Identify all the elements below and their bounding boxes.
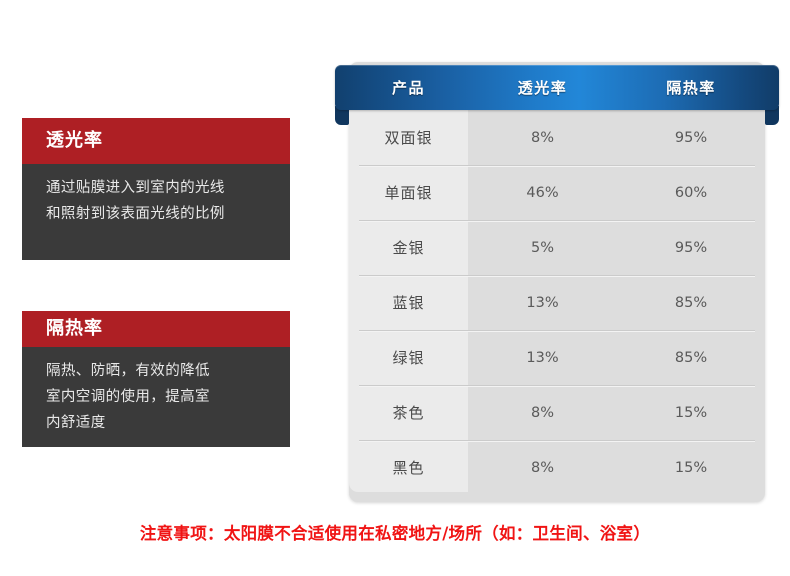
table-row: 绿银 13% 85% bbox=[349, 330, 765, 385]
ribbon-band: 产品 透光率 隔热率 bbox=[335, 65, 779, 110]
cell-heat: 95% bbox=[617, 130, 765, 146]
spec-table-card: 产品 透光率 隔热率 双面银 8% 95% 单面银 46% 60% 金银 5% … bbox=[349, 62, 765, 502]
cell-product: 金银 bbox=[349, 237, 468, 258]
spec-table-body: 双面银 8% 95% 单面银 46% 60% 金银 5% 95% 蓝银 13% … bbox=[349, 110, 765, 492]
table-row: 金银 5% 95% bbox=[349, 220, 765, 275]
cell-product: 茶色 bbox=[349, 402, 468, 423]
cell-product: 绿银 bbox=[349, 347, 468, 368]
cell-vlt: 8% bbox=[468, 405, 617, 421]
table-row: 单面银 46% 60% bbox=[349, 165, 765, 220]
info-card-header: 透光率 bbox=[22, 118, 290, 164]
info-card-body: 隔热、防晒，有效的降低 室内空调的使用，提高室 内舒适度 bbox=[22, 347, 290, 436]
table-header-ribbon: 产品 透光率 隔热率 bbox=[335, 65, 779, 116]
info-card-line: 室内空调的使用，提高室 bbox=[46, 384, 268, 410]
info-card-heat-insulation: 隔热率 隔热、防晒，有效的降低 室内空调的使用，提高室 内舒适度 bbox=[22, 311, 290, 447]
cell-heat: 60% bbox=[617, 185, 765, 201]
page-root: 透光率 通过贴膜进入到室内的光线 和照射到该表面光线的比例 隔热率 隔热、防晒，… bbox=[0, 0, 790, 576]
cell-product: 双面银 bbox=[349, 127, 468, 148]
cell-vlt: 13% bbox=[468, 350, 617, 366]
info-card-title: 透光率 bbox=[46, 132, 103, 150]
table-row: 黑色 8% 15% bbox=[349, 440, 765, 495]
column-header-product: 产品 bbox=[349, 77, 468, 98]
table-row: 蓝银 13% 85% bbox=[349, 275, 765, 330]
cell-vlt: 8% bbox=[468, 460, 617, 476]
cell-vlt: 8% bbox=[468, 130, 617, 146]
cell-heat: 15% bbox=[617, 405, 765, 421]
cell-product: 蓝银 bbox=[349, 292, 468, 313]
info-card-line: 通过贴膜进入到室内的光线 bbox=[46, 175, 268, 201]
warning-note: 注意事项：太阳膜不合适使用在私密地方/场所（如：卫生间、浴室） bbox=[0, 520, 790, 544]
table-row: 双面银 8% 95% bbox=[349, 110, 765, 165]
column-header-heat: 隔热率 bbox=[617, 77, 765, 98]
column-header-vlt: 透光率 bbox=[468, 77, 617, 98]
info-card-body: 通过贴膜进入到室内的光线 和照射到该表面光线的比例 bbox=[22, 164, 290, 227]
cell-heat: 15% bbox=[617, 460, 765, 476]
cell-vlt: 5% bbox=[468, 240, 617, 256]
info-card-transmittance: 透光率 通过贴膜进入到室内的光线 和照射到该表面光线的比例 bbox=[22, 118, 290, 260]
cell-heat: 85% bbox=[617, 295, 765, 311]
cell-heat: 85% bbox=[617, 350, 765, 366]
info-card-title: 隔热率 bbox=[46, 320, 103, 338]
cell-vlt: 46% bbox=[468, 185, 617, 201]
table-row: 茶色 8% 15% bbox=[349, 385, 765, 440]
cell-vlt: 13% bbox=[468, 295, 617, 311]
info-card-line: 和照射到该表面光线的比例 bbox=[46, 201, 268, 227]
info-card-line: 隔热、防晒，有效的降低 bbox=[46, 358, 268, 384]
cell-product: 单面银 bbox=[349, 182, 468, 203]
cell-product: 黑色 bbox=[349, 457, 468, 478]
info-card-line: 内舒适度 bbox=[46, 410, 268, 436]
info-card-header: 隔热率 bbox=[22, 311, 290, 347]
cell-heat: 95% bbox=[617, 240, 765, 256]
